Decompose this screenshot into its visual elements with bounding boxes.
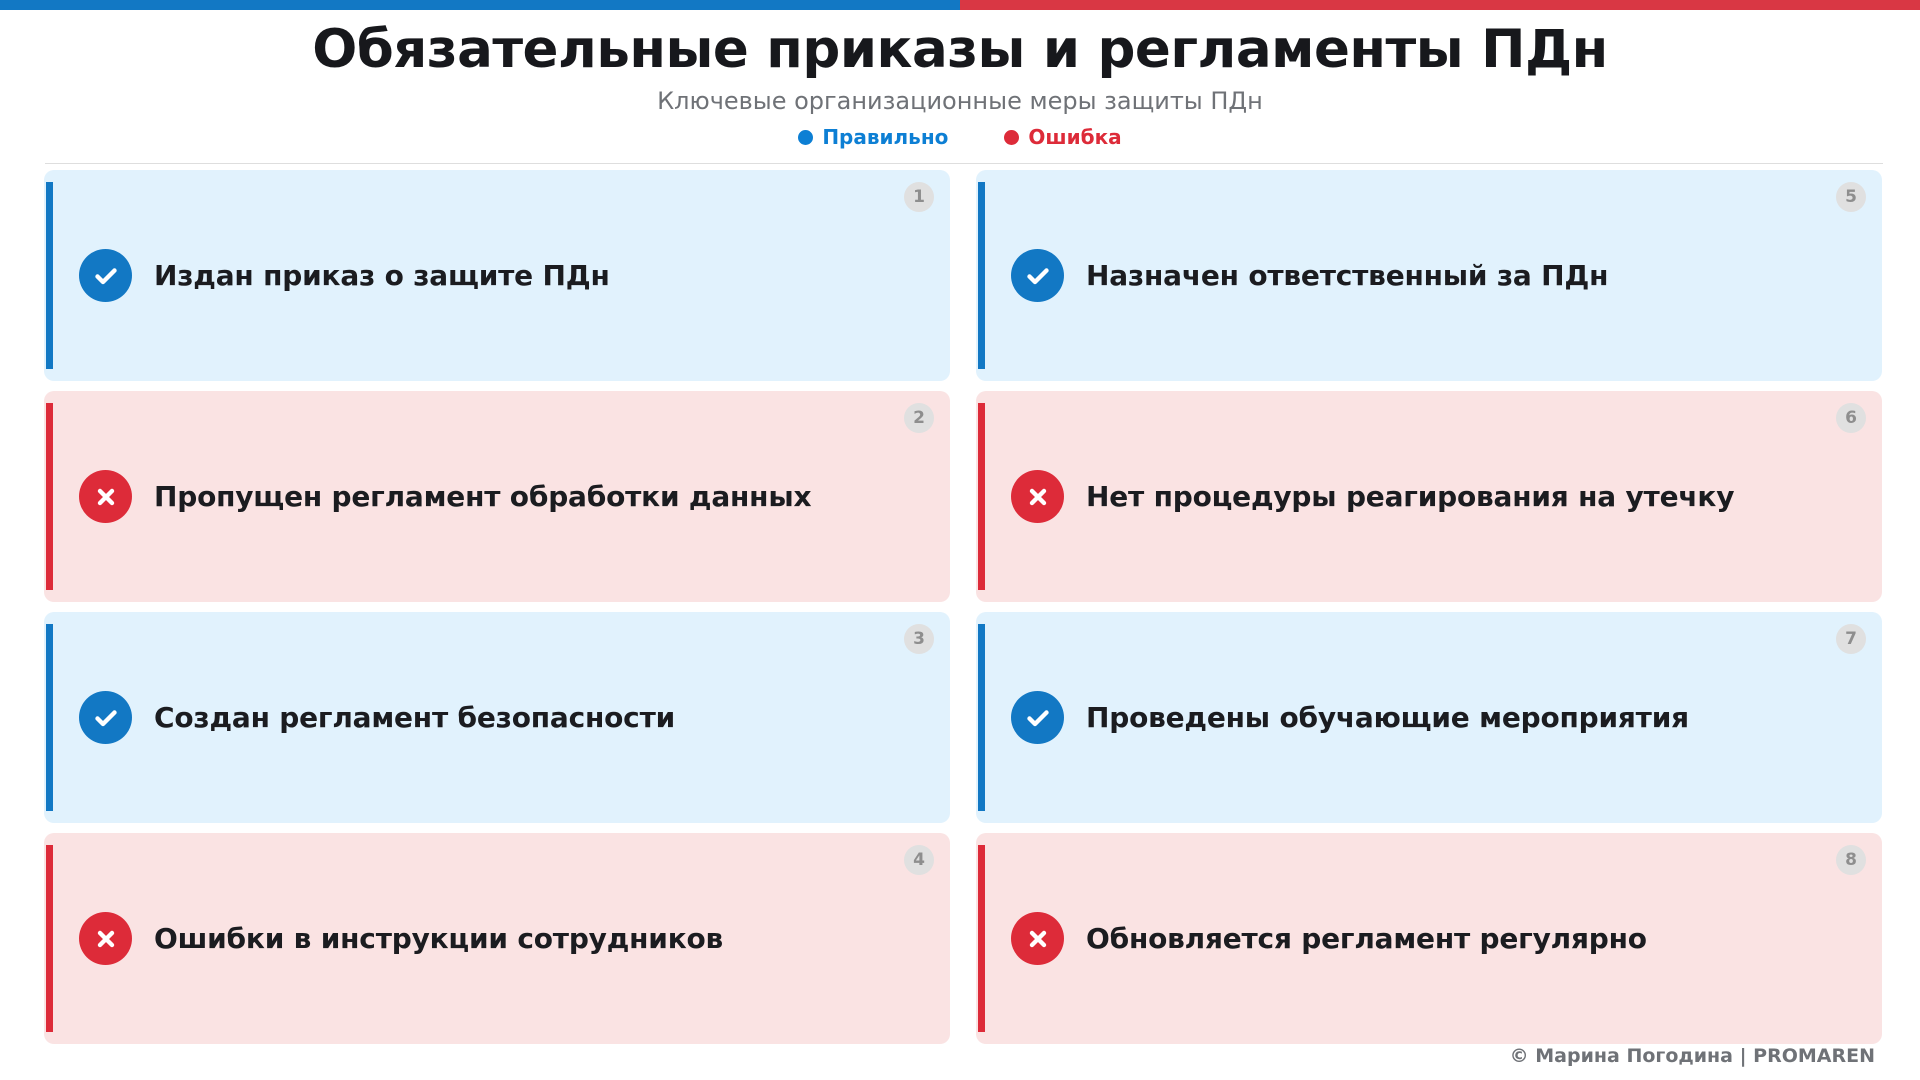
cards-grid: 1 Издан приказ о защите ПДн 5 — [44, 170, 1882, 1044]
card-accent-bar — [978, 624, 985, 811]
header: Обязательные приказы и регламенты ПДн Кл… — [0, 10, 1920, 147]
card-label: Ошибки в инструкции сотрудников — [154, 922, 723, 955]
footer-credit: © Марина Погодина | PROMAREN — [1510, 1045, 1875, 1068]
top-accent-bar-red — [960, 0, 1920, 10]
card-accent-bar — [46, 182, 53, 369]
card-body: Пропущен регламент обработки данных — [44, 470, 950, 523]
card-body: Обновляется регламент регулярно — [976, 912, 1882, 965]
card-label: Создан регламент безопасности — [154, 701, 675, 734]
check-circle-icon — [79, 691, 132, 744]
card-body: Ошибки в инструкции сотрудников — [44, 912, 950, 965]
card-item[interactable]: 7 Проведены обучающие мероприятия — [976, 612, 1882, 823]
card-accent-bar — [46, 845, 53, 1032]
card-item[interactable]: 5 Назначен ответственный за ПДн — [976, 170, 1882, 381]
card-item[interactable]: 3 Создан регламент безопасности — [44, 612, 950, 823]
card-accent-bar — [978, 403, 985, 590]
card-number-badge: 2 — [904, 403, 934, 433]
legend-item-correct-label: Правильно — [822, 127, 948, 147]
card-label: Нет процедуры реагирования на утечку — [1086, 480, 1734, 513]
card-accent-bar — [46, 624, 53, 811]
legend-item-error-label: Ошибка — [1028, 127, 1121, 147]
legend-item-error: Ошибка — [1004, 127, 1121, 147]
legend-item-correct: Правильно — [798, 127, 948, 147]
card-label: Назначен ответственный за ПДн — [1086, 259, 1608, 292]
check-circle-icon — [1011, 249, 1064, 302]
x-circle-icon — [1011, 912, 1064, 965]
header-divider — [45, 163, 1883, 164]
x-circle-icon — [79, 912, 132, 965]
top-accent-bar-blue — [0, 0, 960, 10]
card-item[interactable]: 8 Обновляется регламент регулярно — [976, 833, 1882, 1044]
card-number-badge: 7 — [1836, 624, 1866, 654]
card-item[interactable]: 2 Пропущен регламент обработки данных — [44, 391, 950, 602]
legend: Правильно Ошибка — [0, 116, 1920, 147]
card-label: Издан приказ о защите ПДн — [154, 259, 610, 292]
top-accent-bar — [0, 0, 1920, 10]
x-circle-icon — [1011, 470, 1064, 523]
card-item[interactable]: 1 Издан приказ о защите ПДн — [44, 170, 950, 381]
card-body: Назначен ответственный за ПДн — [976, 249, 1882, 302]
card-label: Пропущен регламент обработки данных — [154, 480, 811, 513]
card-number-badge: 5 — [1836, 182, 1866, 212]
card-number-badge: 1 — [904, 182, 934, 212]
page-subtitle: Ключевые организационные меры защиты ПДн — [0, 79, 1920, 116]
page-title: Обязательные приказы и регламенты ПДн — [0, 10, 1920, 79]
card-number-badge: 6 — [1836, 403, 1866, 433]
infographic-page: Обязательные приказы и регламенты ПДн Кл… — [0, 0, 1920, 1080]
card-label: Обновляется регламент регулярно — [1086, 922, 1647, 955]
card-number-badge: 4 — [904, 845, 934, 875]
card-number-badge: 3 — [904, 624, 934, 654]
card-accent-bar — [978, 182, 985, 369]
circle-dot-icon — [1004, 130, 1019, 145]
card-body: Создан регламент безопасности — [44, 691, 950, 744]
circle-dot-icon — [798, 130, 813, 145]
card-body: Проведены обучающие мероприятия — [976, 691, 1882, 744]
card-body: Нет процедуры реагирования на утечку — [976, 470, 1882, 523]
card-label: Проведены обучающие мероприятия — [1086, 701, 1689, 734]
card-number-badge: 8 — [1836, 845, 1866, 875]
card-accent-bar — [46, 403, 53, 590]
x-circle-icon — [79, 470, 132, 523]
card-body: Издан приказ о защите ПДн — [44, 249, 950, 302]
check-circle-icon — [1011, 691, 1064, 744]
check-circle-icon — [79, 249, 132, 302]
card-accent-bar — [978, 845, 985, 1032]
card-item[interactable]: 4 Ошибки в инструкции сотрудников — [44, 833, 950, 1044]
card-item[interactable]: 6 Нет процедуры реагирования на утечку — [976, 391, 1882, 602]
